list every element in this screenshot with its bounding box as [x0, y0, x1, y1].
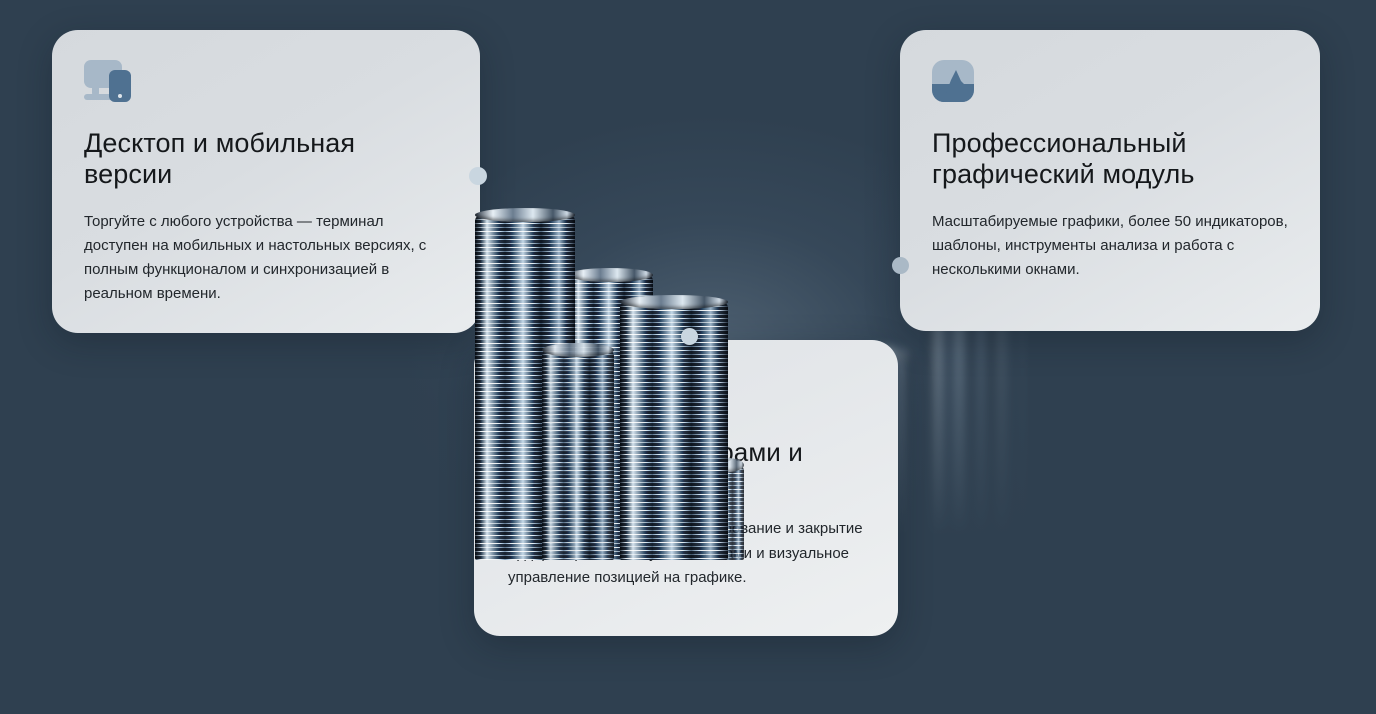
coin-stack-4 — [620, 302, 728, 560]
feature-card-desktop-mobile[interactable]: Десктоп и мобильная версии Торгуйте с лю… — [52, 30, 480, 333]
feature-card-pro-charts[interactable]: Профессиональный графический модуль Масш… — [900, 30, 1320, 331]
connector-dot-2 — [892, 257, 909, 274]
card-title: Профессиональный графический модуль — [932, 128, 1288, 190]
monitor-phone-icon — [84, 60, 448, 106]
phone-shape — [109, 70, 131, 102]
card-description: Масштабируемые графики, более 50 индикат… — [932, 210, 1288, 283]
feature-cards-screen: Десктоп и мобильная версии Торгуйте с лю… — [0, 0, 1376, 714]
coin-stack-3 — [542, 350, 614, 560]
chart-wave-line — [932, 60, 974, 102]
card-title: Десктоп и мобильная версии — [84, 128, 448, 190]
connector-dot-1 — [469, 167, 487, 185]
card-description: Торгуйте с любого устройства — терминал … — [84, 210, 448, 307]
chart-wave-icon — [932, 60, 1288, 106]
connector-dot-3 — [681, 328, 698, 345]
